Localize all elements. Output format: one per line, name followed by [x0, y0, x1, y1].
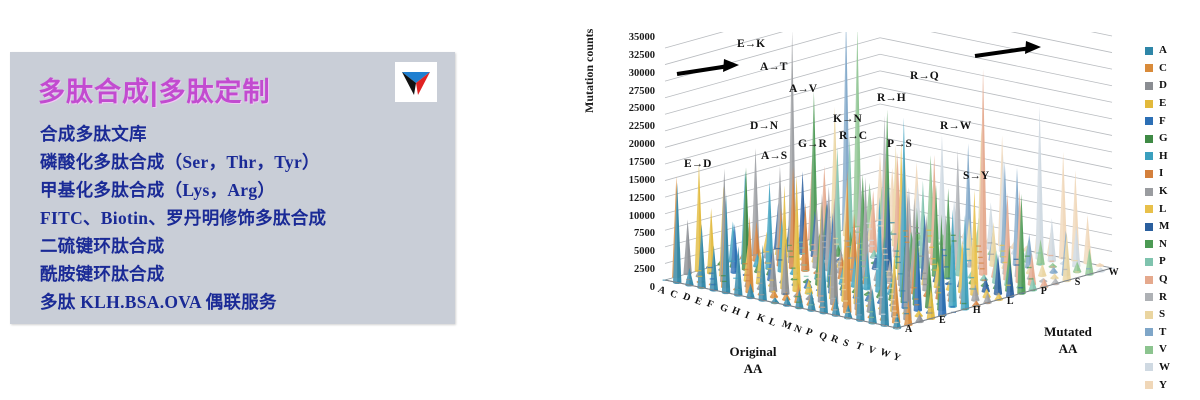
- legend-swatch-icon: [1145, 170, 1153, 178]
- legend-label: K: [1159, 186, 1168, 197]
- legend-swatch-icon: [1145, 293, 1153, 301]
- legend-label: M: [1159, 221, 1169, 232]
- legend-label: Y: [1159, 380, 1167, 391]
- legend-label: P: [1159, 256, 1166, 267]
- legend-swatch-icon: [1145, 363, 1153, 371]
- legend-swatch-icon: [1145, 328, 1153, 336]
- y-tick-label: 5000: [634, 246, 655, 257]
- peak-annotation: A→V: [789, 83, 817, 95]
- legend-label: I: [1159, 168, 1163, 179]
- z-tick-s: S: [1075, 277, 1081, 288]
- legend-swatch-icon: [1145, 381, 1153, 389]
- legend-label: E: [1159, 98, 1166, 109]
- legend-item-k[interactable]: K: [1145, 183, 1193, 201]
- peak-annotation: A→T: [760, 61, 787, 73]
- series-legend[interactable]: ACDEFGHIKLMNPQRSTVWY: [1145, 42, 1193, 394]
- service-item: 合成多肽文库: [40, 120, 445, 148]
- peak-annotation: E→D: [684, 158, 711, 170]
- legend-label: Q: [1159, 274, 1168, 285]
- y-tick-label: 15000: [629, 175, 655, 186]
- legend-item-d[interactable]: D: [1145, 77, 1193, 95]
- y-tick-label: 17500: [629, 157, 655, 168]
- legend-swatch-icon: [1145, 100, 1153, 108]
- legend-swatch-icon: [1145, 240, 1153, 248]
- legend-swatch-icon: [1145, 205, 1153, 213]
- mutation-counts-3d-chart: Mutation counts 025005000750010000125001…: [585, 18, 1195, 394]
- legend-item-t[interactable]: T: [1145, 324, 1193, 342]
- legend-label: N: [1159, 239, 1167, 250]
- service-item: 二硫键环肽合成: [40, 232, 445, 260]
- legend-item-l[interactable]: L: [1145, 200, 1193, 218]
- service-list: 合成多肽文库 磷酸化多肽合成（Ser，Thr，Tyr） 甲基化多肽合成（Lys，…: [40, 120, 445, 316]
- service-item: FITC、Biotin、罗丹明修饰多肽合成: [40, 204, 445, 232]
- y-tick-label: 7500: [634, 228, 655, 239]
- legend-item-s[interactable]: S: [1145, 306, 1193, 324]
- peak-annotation: R→Q: [910, 70, 939, 82]
- service-item: 磷酸化多肽合成（Ser，Thr，Tyr）: [40, 148, 445, 176]
- legend-swatch-icon: [1145, 47, 1153, 55]
- legend-item-n[interactable]: N: [1145, 236, 1193, 254]
- legend-item-r[interactable]: R: [1145, 288, 1193, 306]
- legend-swatch-icon: [1145, 117, 1153, 125]
- peak-annotation: K→N: [833, 113, 862, 125]
- service-item: 甲基化多肽合成（Lys，Arg）: [40, 176, 445, 204]
- peptide-synthesis-ad-panel[interactable]: 多肽合成|多肽定制 合成多肽文库 磷酸化多肽合成（Ser，Thr，Tyr） 甲基…: [10, 52, 455, 324]
- peak-annotation: S→Y: [963, 170, 989, 182]
- legend-label: T: [1159, 327, 1166, 338]
- legend-item-h[interactable]: H: [1145, 148, 1193, 166]
- y-tick-label: 35000: [629, 32, 655, 43]
- x-axis-title: OriginalAA: [693, 343, 813, 377]
- legend-swatch-icon: [1145, 276, 1153, 284]
- legend-item-g[interactable]: G: [1145, 130, 1193, 148]
- legend-item-w[interactable]: W: [1145, 359, 1193, 377]
- z-axis-title-text: MutatedAA: [1044, 324, 1092, 356]
- service-item: 酰胺键环肽合成: [40, 260, 445, 288]
- legend-swatch-icon: [1145, 64, 1153, 72]
- y-tick-label: 27500: [629, 86, 655, 97]
- peak-annotation: E→K: [737, 38, 765, 50]
- legend-swatch-icon: [1145, 135, 1153, 143]
- legend-item-p[interactable]: P: [1145, 253, 1193, 271]
- y-tick-label: 12500: [629, 193, 655, 204]
- y-tick-label: 2500: [634, 264, 655, 275]
- x-axis-title-text: OriginalAA: [730, 344, 777, 376]
- legend-label: H: [1159, 151, 1168, 162]
- legend-label: F: [1159, 116, 1166, 127]
- x-tick-w: W: [879, 347, 892, 361]
- legend-swatch-icon: [1145, 152, 1153, 160]
- legend-item-v[interactable]: V: [1145, 341, 1193, 359]
- legend-item-a[interactable]: A: [1145, 42, 1193, 60]
- z-tick-p: P: [1041, 286, 1047, 297]
- x-tick-y: Y: [891, 351, 902, 364]
- legend-item-q[interactable]: Q: [1145, 271, 1193, 289]
- z-tick-l: L: [1007, 296, 1014, 307]
- y-tick-label: 20000: [629, 139, 655, 150]
- x-tick-t: T: [854, 341, 864, 354]
- legend-item-c[interactable]: C: [1145, 60, 1193, 78]
- legend-label: S: [1159, 309, 1165, 320]
- screenshot-root: 多肽合成|多肽定制 合成多肽文库 磷酸化多肽合成（Ser，Thr，Tyr） 甲基…: [0, 0, 1200, 400]
- legend-swatch-icon: [1145, 311, 1153, 319]
- legend-swatch-icon: [1145, 188, 1153, 196]
- y-tick-label: 22500: [629, 121, 655, 132]
- legend-label: R: [1159, 292, 1167, 303]
- legend-swatch-icon: [1145, 258, 1153, 266]
- y-tick-label: 25000: [629, 103, 655, 114]
- peak-annotation: R→C: [839, 130, 867, 142]
- ad-panel-title: 多肽合成|多肽定制: [38, 70, 271, 109]
- service-item: 多肽 KLH.BSA.OVA 偶联服务: [40, 288, 445, 316]
- z-axis-title: MutatedAA: [1023, 323, 1113, 357]
- legend-swatch-icon: [1145, 82, 1153, 90]
- legend-label: A: [1159, 45, 1167, 56]
- y-tick-label: 0: [650, 282, 655, 293]
- z-tick-w: W: [1109, 267, 1119, 278]
- y-axis-title: Mutation counts: [582, 29, 597, 113]
- company-logo-tricolor-arrow-icon: [399, 66, 433, 98]
- legend-swatch-icon: [1145, 223, 1153, 231]
- peak-annotation: G→R: [798, 138, 827, 150]
- legend-label: L: [1159, 204, 1166, 215]
- peak-annotation: A→S: [761, 150, 787, 162]
- legend-item-y[interactable]: Y: [1145, 376, 1193, 394]
- legend-swatch-icon: [1145, 346, 1153, 354]
- legend-label: V: [1159, 344, 1167, 355]
- y-axis-tick-labels: 0250050007500100001250015000175002000022…: [599, 38, 655, 288]
- legend-item-m[interactable]: M: [1145, 218, 1193, 236]
- y-tick-label: 30000: [629, 68, 655, 79]
- legend-label: D: [1159, 80, 1167, 91]
- z-tick-h: H: [973, 305, 981, 316]
- company-logo: [395, 62, 437, 102]
- z-tick-e: E: [939, 315, 946, 326]
- y-tick-label: 32500: [629, 50, 655, 61]
- peak-annotation: R→H: [877, 92, 906, 104]
- legend-item-e[interactable]: E: [1145, 95, 1193, 113]
- legend-label: C: [1159, 63, 1167, 74]
- z-tick-a: A: [905, 324, 912, 335]
- legend-item-i[interactable]: I: [1145, 165, 1193, 183]
- legend-item-f[interactable]: F: [1145, 112, 1193, 130]
- x-tick-v: V: [866, 344, 877, 357]
- legend-label: W: [1159, 362, 1170, 373]
- peak-annotation: D→N: [750, 120, 778, 132]
- peak-annotation: P→S: [887, 138, 912, 150]
- legend-label: G: [1159, 133, 1168, 144]
- y-tick-label: 10000: [629, 211, 655, 222]
- peak-annotation: R→W: [940, 120, 971, 132]
- plot-canvas: [657, 32, 1127, 342]
